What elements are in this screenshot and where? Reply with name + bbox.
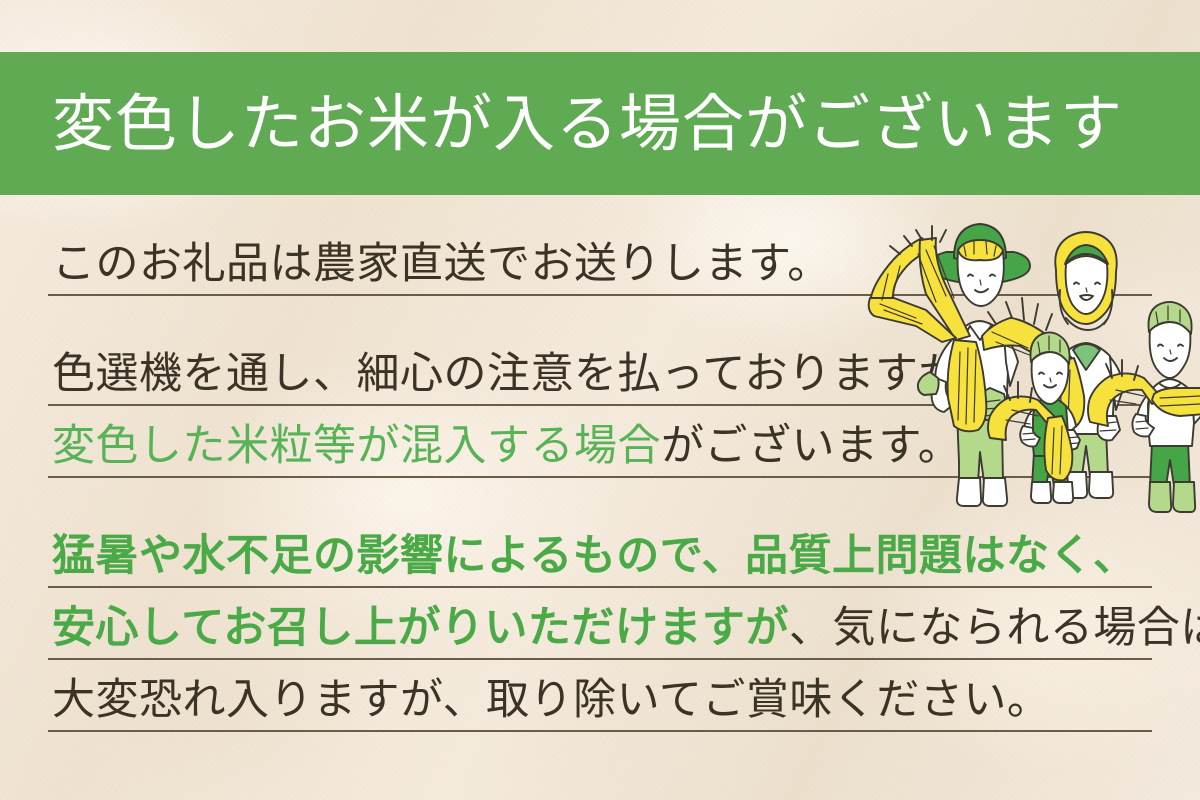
text-line-4-content: 猛暑や水不足の影響によるもので、品質上問題はなく、: [52, 535, 1137, 578]
text-segment: 、気になられる場合は、: [789, 603, 1200, 653]
text-line-3-content: 変色した米粒等が混入する場合がございます。: [52, 425, 961, 468]
text-segment: このお礼品は農家直送でお送りします。: [52, 239, 831, 289]
text-line-6-rule: [48, 730, 1152, 732]
text-line-5: 安心してお召し上がりいただけますが、気になられる場合は、: [48, 588, 1152, 660]
text-line-5-content: 安心してお召し上がりいただけますが、気になられる場合は、: [52, 607, 1200, 650]
text-line-1-content: このお礼品は農家直送でお送りします。: [52, 243, 831, 286]
banner-title: 変色したお米が入る場合がございます: [0, 93, 1123, 155]
text-segment-highlight: 安心してお召し上がりいただけますが: [52, 603, 789, 653]
text-line-6-content: 大変恐れ入りますが、取り除いてご賞味ください。: [52, 679, 1050, 722]
text-line-6: 大変恐れ入りますが、取り除いてご賞味ください。: [48, 660, 1152, 732]
farming-family-illustration: .o { fill:none; stroke:#3c3a33; stroke-w…: [860, 190, 1200, 520]
text-segment-highlight: 猛暑や水不足の影響によるもので、品質上問題はなく、: [52, 531, 1137, 581]
text-segment-highlight: 変色した米粒等が混入する場合: [52, 421, 661, 471]
text-segment: 大変恐れ入りますが、取り除いてご賞味ください。: [52, 675, 1050, 725]
header-banner: 変色したお米が入る場合がございます: [0, 52, 1200, 195]
poster-root: 変色したお米が入る場合がございます このお礼品は農家直送でお送りします。 色選機…: [0, 0, 1200, 800]
text-line-4: 猛暑や水不足の影響によるもので、品質上問題はなく、: [48, 516, 1152, 588]
